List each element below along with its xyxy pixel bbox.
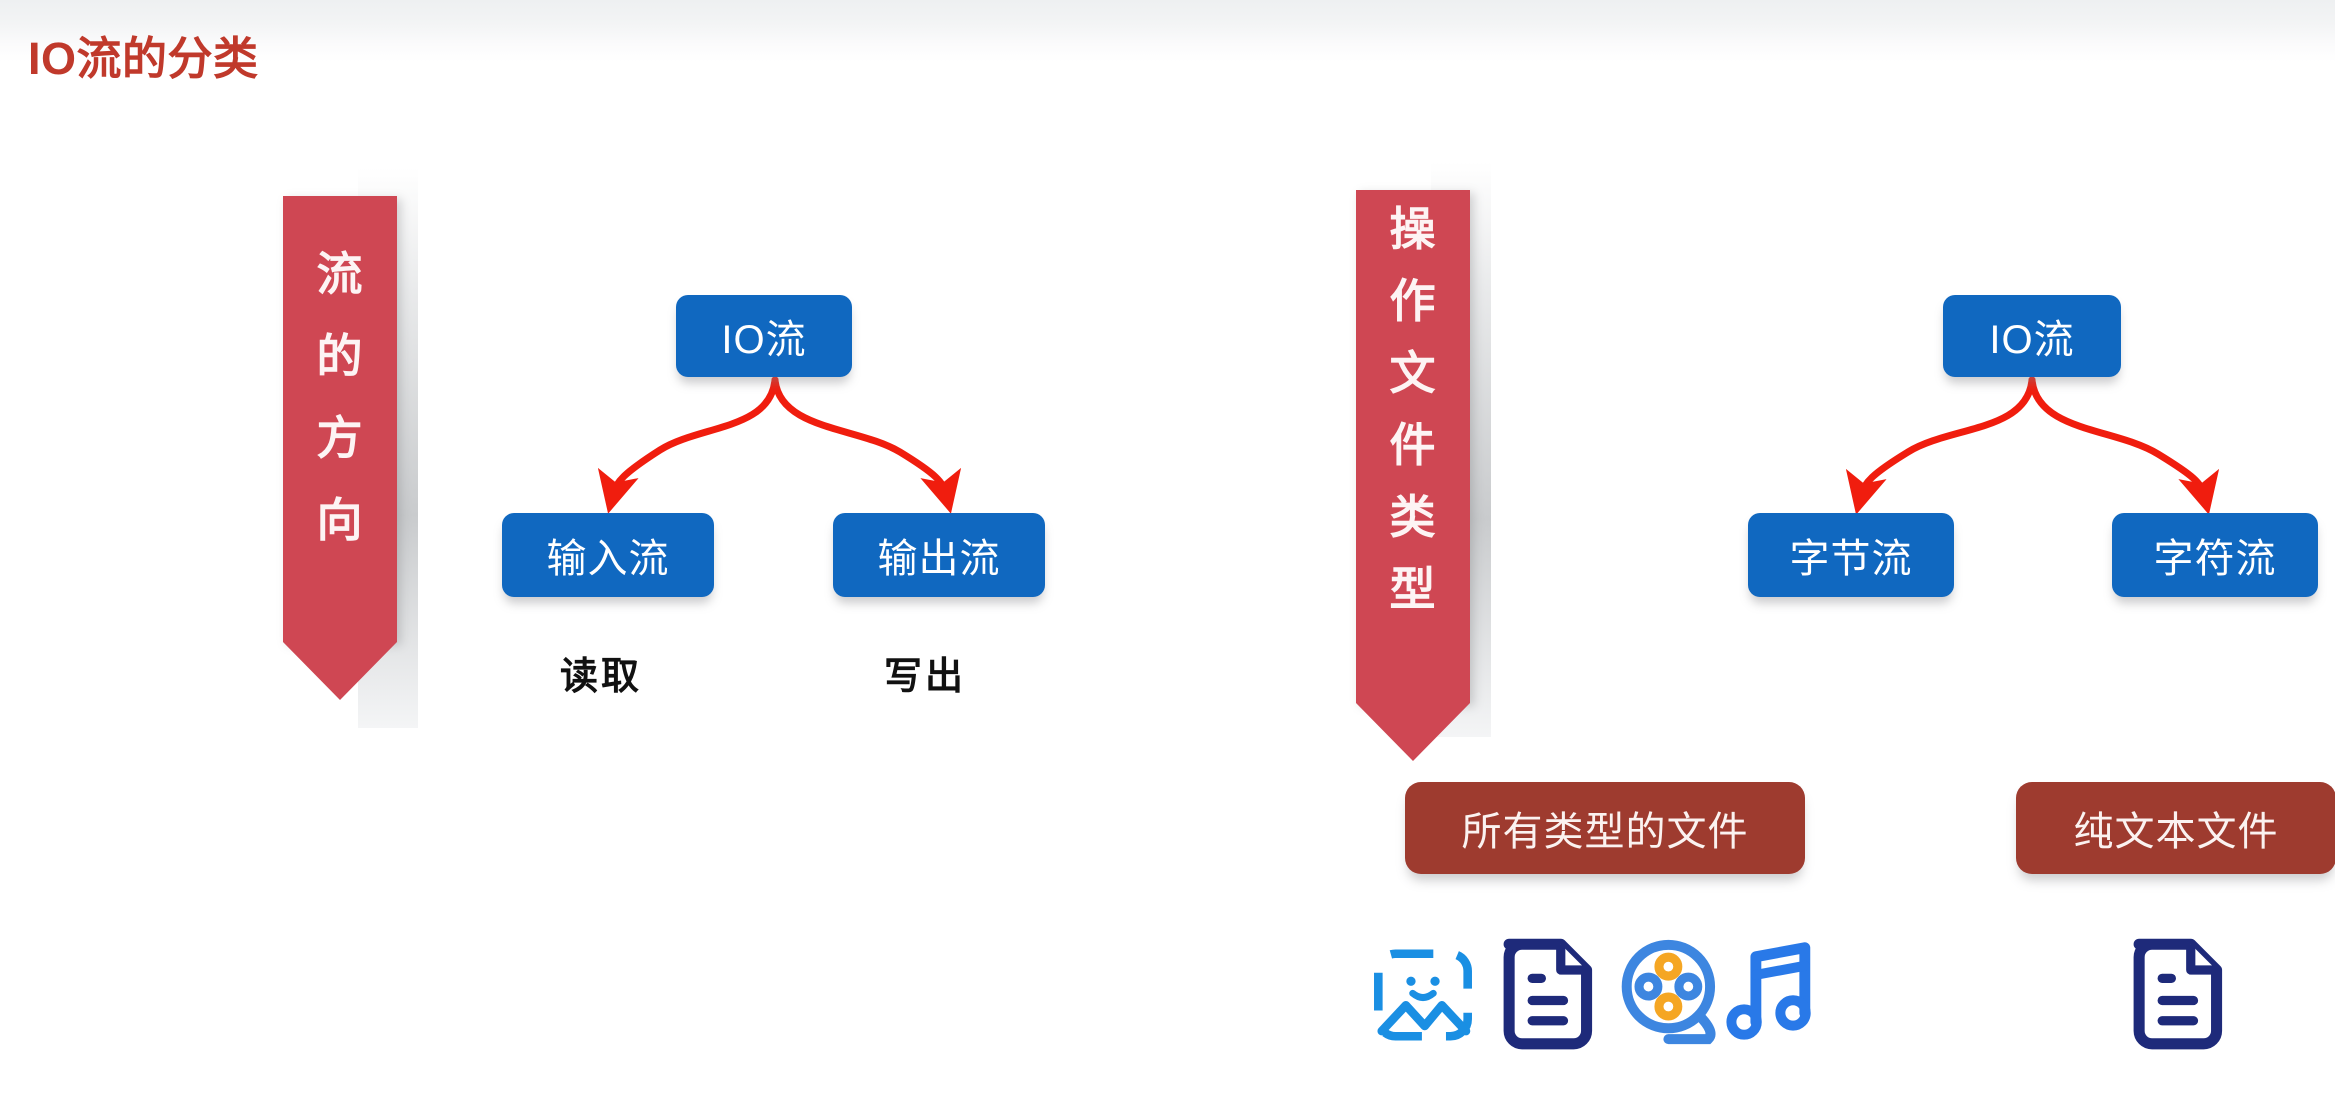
arrow-to-char-stream: [2032, 380, 2204, 495]
document-icon[interactable]: [2123, 935, 2229, 1053]
banner-char: 的: [283, 333, 397, 379]
node-label: IO流: [1989, 307, 2074, 365]
banner-char: 方: [283, 415, 397, 461]
banner-stream-direction: 流 的 方 向: [283, 196, 473, 756]
banner-char: 操: [1356, 206, 1470, 252]
left-diagram-panel: 流 的 方 向 IO流 输入流 输出流 读取 写出: [0, 0, 1250, 1094]
node-io-stream-root[interactable]: IO流: [1943, 295, 2121, 377]
image-icon[interactable]: [1368, 940, 1478, 1050]
banner-label-vertical: 操 作 文 件 类 型: [1356, 190, 1470, 612]
banner-char: 文: [1356, 350, 1470, 396]
banner-char: 作: [1356, 278, 1470, 324]
redbox-label: 纯文本文件: [2074, 799, 2279, 857]
node-label: 输出流: [878, 526, 1001, 584]
caption-read: 读取: [560, 645, 642, 700]
node-input-stream[interactable]: 输入流: [502, 513, 714, 597]
redbox-label: 所有类型的文件: [1462, 799, 1749, 857]
node-io-stream-root[interactable]: IO流: [676, 295, 852, 377]
right-diagram-panel: 操 作 文 件 类 型 IO流 字节流 字符流 所有类型的文件: [1250, 0, 2335, 1094]
caption-write: 写出: [884, 645, 966, 700]
node-label: 输入流: [547, 526, 670, 584]
banner-char: 向: [283, 497, 397, 543]
node-label: IO流: [721, 307, 806, 365]
film-reel-icon[interactable]: [1614, 933, 1730, 1051]
document-icon[interactable]: [1493, 935, 1599, 1053]
banner-file-type: 操 作 文 件 类 型: [1356, 190, 1546, 810]
banner-char: 型: [1356, 566, 1470, 612]
redbox-plain-text-file[interactable]: 纯文本文件: [2016, 782, 2335, 874]
redbox-all-file-types[interactable]: 所有类型的文件: [1405, 782, 1805, 874]
arrow-to-input-stream: [613, 380, 775, 494]
page-title: IO流的分类: [28, 22, 259, 87]
node-char-stream[interactable]: 字符流: [2112, 513, 2318, 597]
arrow-to-byte-stream: [1861, 380, 2032, 495]
node-byte-stream[interactable]: 字节流: [1748, 513, 1954, 597]
banner-char: 件: [1356, 422, 1470, 468]
banner-char: 类: [1356, 494, 1470, 540]
music-note-icon[interactable]: [1724, 935, 1824, 1051]
node-output-stream[interactable]: 输出流: [833, 513, 1045, 597]
node-label: 字符流: [2154, 526, 2277, 584]
banner-label-vertical: 流 的 方 向: [283, 196, 397, 543]
arrow-to-output-stream: [775, 380, 946, 494]
node-label: 字节流: [1790, 526, 1913, 584]
banner-char: 流: [283, 251, 397, 297]
